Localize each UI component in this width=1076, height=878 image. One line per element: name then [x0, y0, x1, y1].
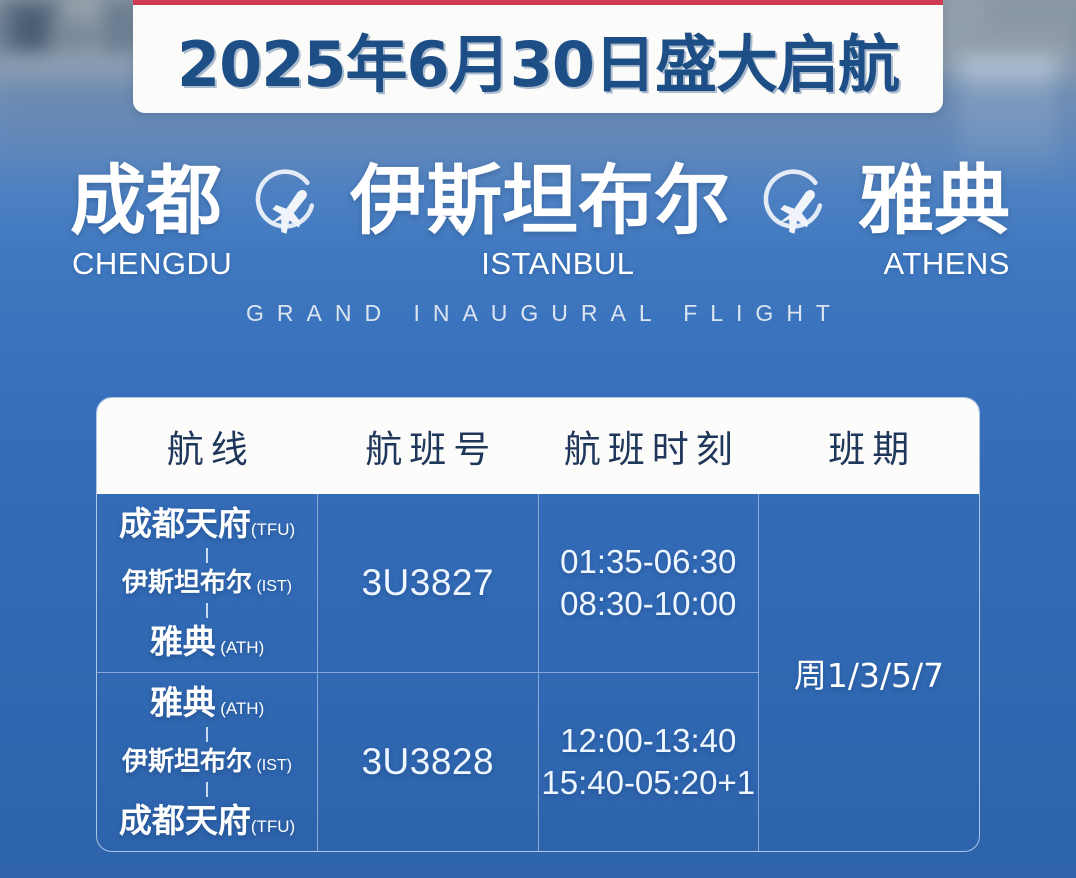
column-header-route: 航线	[97, 398, 318, 494]
banner-title: 2025年6月30日盛大启航	[177, 14, 899, 104]
route-city-cn: 雅典	[150, 622, 216, 661]
route-city-cn: 雅典	[150, 683, 216, 722]
frequency-cell: 周1/3/5/7	[759, 494, 980, 851]
route-leg: 伊斯坦布尔 (IST)	[97, 749, 317, 776]
route-dash	[206, 782, 208, 797]
route-headline: 成都 伊斯坦布尔 雅典	[70, 148, 1010, 254]
route-city-code: (ATH)	[220, 699, 264, 718]
schedule-cell-return: 12:00-13:40 15:40-05:20+1	[538, 673, 759, 852]
city-en-origin: CHENGDU	[72, 246, 232, 282]
flight-number-cell-return: 3U3828	[318, 673, 539, 852]
route-city-code: (IST)	[256, 578, 292, 595]
route-city-code: (ATH)	[220, 638, 264, 657]
airplane-circle-icon-2	[756, 163, 832, 239]
flight-schedule-table: 航线 航班号 航班时刻 班期 成都天府(TFU) 伊斯坦布尔 (IST)	[96, 397, 980, 852]
route-city-code: (TFU)	[251, 817, 295, 836]
route-city-cn: 伊斯坦布尔	[122, 568, 252, 598]
table-header-row: 航线 航班号 航班时刻 班期	[97, 398, 979, 494]
schedule-time: 15:40-05:20+1	[539, 762, 759, 804]
schedule-time: 01:35-06:30	[539, 541, 759, 583]
schedule-time: 12:00-13:40	[539, 720, 759, 762]
route-leg: 雅典 (ATH)	[97, 625, 317, 659]
route-leg: 成都天府(TFU)	[97, 804, 317, 838]
airplane-circle-icon	[248, 163, 324, 239]
city-name-origin: 成都	[70, 163, 222, 239]
route-dash	[206, 548, 208, 563]
route-city-cn: 伊斯坦布尔	[122, 747, 252, 777]
poster-canvas: 2025年6月30日盛大启航 成都 伊斯坦布尔 雅典 CHENGDU ISTAN…	[0, 0, 1076, 878]
city-name-destination: 雅典	[858, 163, 1010, 239]
frequency-value: 周1/3/5/7	[759, 649, 979, 697]
route-leg: 成都天府(TFU)	[97, 507, 317, 541]
tagline: GRAND INAUGURAL FLIGHT	[0, 300, 1076, 327]
city-en-destination: ATHENS	[884, 246, 1010, 282]
route-city-cn: 成都天府	[119, 801, 251, 840]
flight-number: 3U3828	[318, 741, 538, 783]
city-en-transit: ISTANBUL	[481, 246, 634, 282]
route-leg: 雅典 (ATH)	[97, 686, 317, 720]
route-leg: 伊斯坦布尔 (IST)	[97, 570, 317, 597]
route-city-code: (IST)	[256, 757, 292, 774]
route-dash	[206, 603, 208, 618]
route-city-code: (TFU)	[251, 520, 295, 539]
column-header-schedule: 航班时刻	[538, 398, 759, 494]
route-cell-outbound: 成都天府(TFU) 伊斯坦布尔 (IST) 雅典 (ATH)	[97, 494, 318, 673]
column-header-frequency: 班期	[759, 398, 980, 494]
schedule-cell-outbound: 01:35-06:30 08:30-10:00	[538, 494, 759, 673]
city-names-english: CHENGDU ISTANBUL ATHENS	[72, 246, 1010, 282]
route-city-cn: 成都天府	[119, 504, 251, 543]
route-cell-return: 雅典 (ATH) 伊斯坦布尔 (IST) 成都天府(TFU)	[97, 673, 318, 852]
announcement-banner: 2025年6月30日盛大启航	[133, 0, 943, 113]
route-dash	[206, 727, 208, 742]
flight-number-cell-outbound: 3U3827	[318, 494, 539, 673]
schedule-time: 08:30-10:00	[539, 583, 759, 625]
flight-number: 3U3827	[318, 562, 538, 604]
table-row: 成都天府(TFU) 伊斯坦布尔 (IST) 雅典 (ATH) 3U3827	[97, 494, 979, 673]
column-header-flight-no: 航班号	[318, 398, 539, 494]
city-name-transit: 伊斯坦布尔	[350, 163, 730, 239]
